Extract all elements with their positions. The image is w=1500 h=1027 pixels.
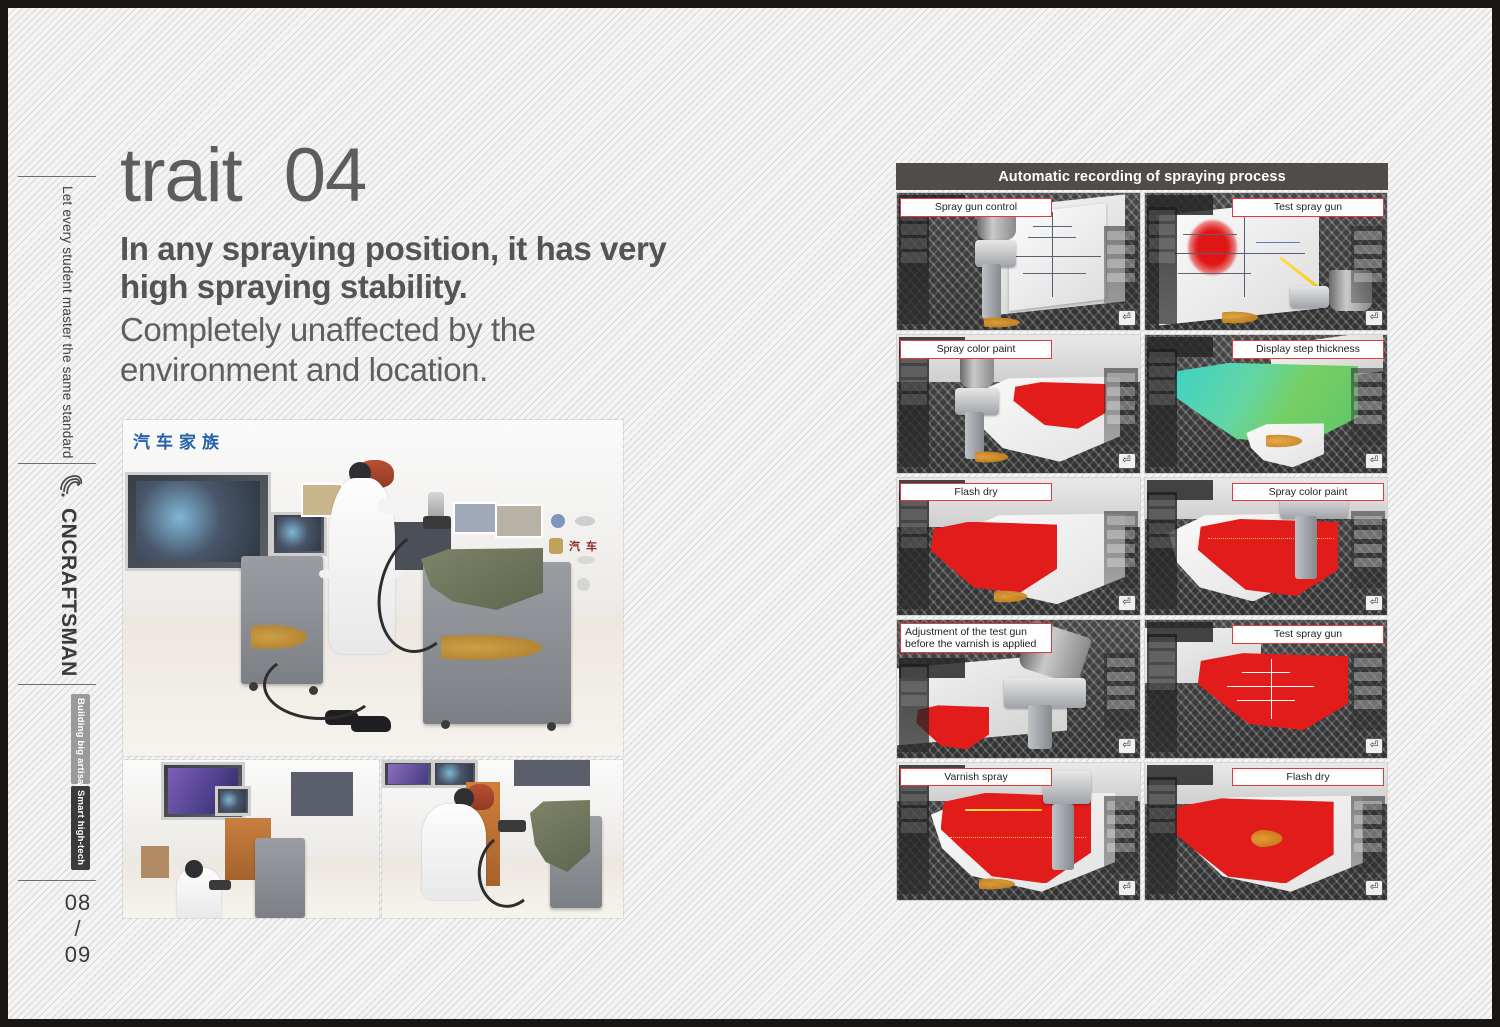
vr-panel-header: Automatic recording of spraying process — [896, 163, 1388, 190]
vr-cell-label: Test spray gun — [1232, 198, 1384, 217]
vr-cell-label: Spray gun control — [900, 198, 1052, 217]
cart-logo-left — [251, 623, 313, 651]
vr-cell-adjustment-test-gun[interactable]: Adjustment of the test gun before the va… — [896, 619, 1141, 758]
screen-content — [136, 481, 259, 563]
exit-arrow-icon[interactable]: ⏎ — [1365, 453, 1383, 469]
vr-cell-label: Adjustment of the test gun before the va… — [900, 623, 1052, 653]
secondary-monitor — [271, 512, 327, 556]
head — [185, 860, 203, 878]
vr-cell-test-spray-gun-2[interactable]: Test spray gun ⏎ — [1144, 619, 1389, 758]
vr-cell-spray-color-paint[interactable]: Spray color paint ⏎ — [896, 334, 1141, 473]
hud-left-toolbar[interactable] — [899, 207, 929, 324]
bottom-left-photo — [123, 760, 379, 918]
screen-content-2 — [277, 517, 321, 550]
hud-left-toolbar[interactable] — [1147, 777, 1177, 894]
headline-light: Completely unaffected by the environment… — [120, 310, 650, 390]
exit-arrow-icon[interactable]: ⏎ — [1365, 738, 1383, 754]
spray-gun-body — [423, 516, 451, 529]
exit-arrow-icon[interactable]: ⏎ — [1118, 595, 1136, 611]
wall-poster-2 — [453, 502, 497, 534]
spray-gun — [498, 820, 526, 832]
vr-cell-varnish-spray[interactable]: Varnish spray ⏎ — [896, 762, 1141, 901]
vr-cell-label: Spray color paint — [1232, 483, 1384, 502]
wall-chinese-text: 汽车家族 — [133, 428, 225, 453]
spiral-swirl-logo-icon — [58, 473, 84, 499]
photo-scene — [382, 760, 623, 918]
small-monitor — [215, 786, 251, 816]
headline-block: trait04 In any spraying position, it has… — [120, 136, 680, 390]
vr-cell-display-step-thickness[interactable]: Display step thickness ⏎ — [1144, 334, 1389, 473]
hud-left-toolbar[interactable] — [1147, 349, 1177, 466]
main-training-photo: 汽车家族 汽车 — [123, 420, 623, 756]
exit-arrow-icon[interactable]: ⏎ — [1365, 880, 1383, 896]
cart-wheel — [441, 720, 450, 729]
cart-logo-right — [441, 633, 554, 662]
vr-cell-flash-dry[interactable]: Flash dry ⏎ — [896, 477, 1141, 616]
sidebar-divider-4 — [18, 880, 96, 881]
hud-left-toolbar[interactable] — [1147, 492, 1177, 609]
cart-wheel — [547, 722, 556, 731]
vr-cell-label: Flash dry — [1232, 768, 1384, 787]
exit-arrow-icon[interactable]: ⏎ — [1118, 880, 1136, 896]
headline-bold: In any spraying position, it has very hi… — [120, 230, 680, 306]
hud-left-toolbar[interactable] — [899, 777, 929, 894]
trainee-coverall — [422, 804, 486, 900]
badge-building-big-artisans: Building big artisans — [71, 694, 90, 784]
vr-cell-label: Test spray gun — [1232, 625, 1384, 644]
exit-arrow-icon[interactable]: ⏎ — [1118, 738, 1136, 754]
vr-cell-label: Varnish spray — [900, 768, 1052, 787]
photo-scene — [123, 760, 379, 918]
vr-cell-flash-dry-2[interactable]: Flash dry ⏎ — [1144, 762, 1389, 901]
air-hose-floor — [263, 650, 379, 720]
sidebar-divider-3 — [18, 684, 96, 685]
cart-wheel — [249, 682, 258, 691]
page-number: 08 / 09 — [52, 890, 104, 968]
left-sidebar: Let every student master the same standa… — [18, 8, 98, 1019]
page-number-separator: / — [52, 916, 104, 942]
bottom-right-photo — [382, 760, 623, 918]
brand-name: CNCRAFTSMAN — [56, 508, 80, 677]
vr-cell-label: Display step thickness — [1232, 340, 1384, 359]
page-title: trait04 — [120, 136, 680, 216]
exit-arrow-icon[interactable]: ⏎ — [1365, 595, 1383, 611]
shoe — [351, 716, 391, 732]
info-board — [291, 772, 353, 816]
vr-cell-label: Flash dry — [900, 483, 1052, 502]
exit-arrow-icon[interactable]: ⏎ — [1118, 310, 1136, 326]
hud-left-toolbar[interactable] — [1147, 634, 1177, 751]
vr-screenshot-grid: Spray gun control ⏎ — [896, 192, 1388, 901]
page-number-next: 09 — [52, 942, 104, 968]
badge-smart-high-tech: Smart high-tech — [71, 786, 90, 870]
display-screen — [382, 760, 434, 788]
sidebar-tagline: Let every student master the same standa… — [60, 186, 75, 459]
vr-simulation-panel: Automatic recording of spraying process — [896, 163, 1388, 901]
trait-number: 04 — [284, 133, 367, 218]
screen-content — [220, 790, 246, 811]
hud-left-toolbar[interactable] — [1147, 207, 1177, 324]
brochure-page: Let every student master the same standa… — [8, 8, 1492, 1019]
vr-cell-spray-gun-control[interactable]: Spray gun control ⏎ — [896, 192, 1141, 331]
exit-arrow-icon[interactable]: ⏎ — [1118, 453, 1136, 469]
page-number-current: 08 — [52, 890, 104, 916]
wall-chinese-text-2: 汽车 — [569, 538, 603, 554]
sidebar-divider-2 — [18, 463, 96, 464]
equipment-cart — [255, 838, 305, 918]
trait-word: trait — [120, 133, 242, 218]
photo-scene: 汽车家族 汽车 — [123, 420, 623, 756]
hud-right-scale — [1104, 226, 1138, 303]
vr-cell-test-spray-gun[interactable]: Test spray gun ⏎ — [1144, 192, 1389, 331]
hud-left-toolbar[interactable] — [899, 492, 929, 609]
hud-left-toolbar[interactable] — [899, 664, 929, 751]
box — [141, 846, 169, 878]
info-board — [514, 760, 590, 786]
wall-poster-3 — [495, 504, 543, 538]
exit-arrow-icon[interactable]: ⏎ — [1365, 310, 1383, 326]
sidebar-divider-1 — [18, 176, 96, 177]
spray-gun — [209, 880, 231, 890]
hud-left-toolbar[interactable] — [899, 349, 929, 466]
vr-cell-spray-color-paint-2[interactable]: Spray color paint ⏎ — [1144, 477, 1389, 616]
vr-cell-label: Spray color paint — [900, 340, 1052, 359]
